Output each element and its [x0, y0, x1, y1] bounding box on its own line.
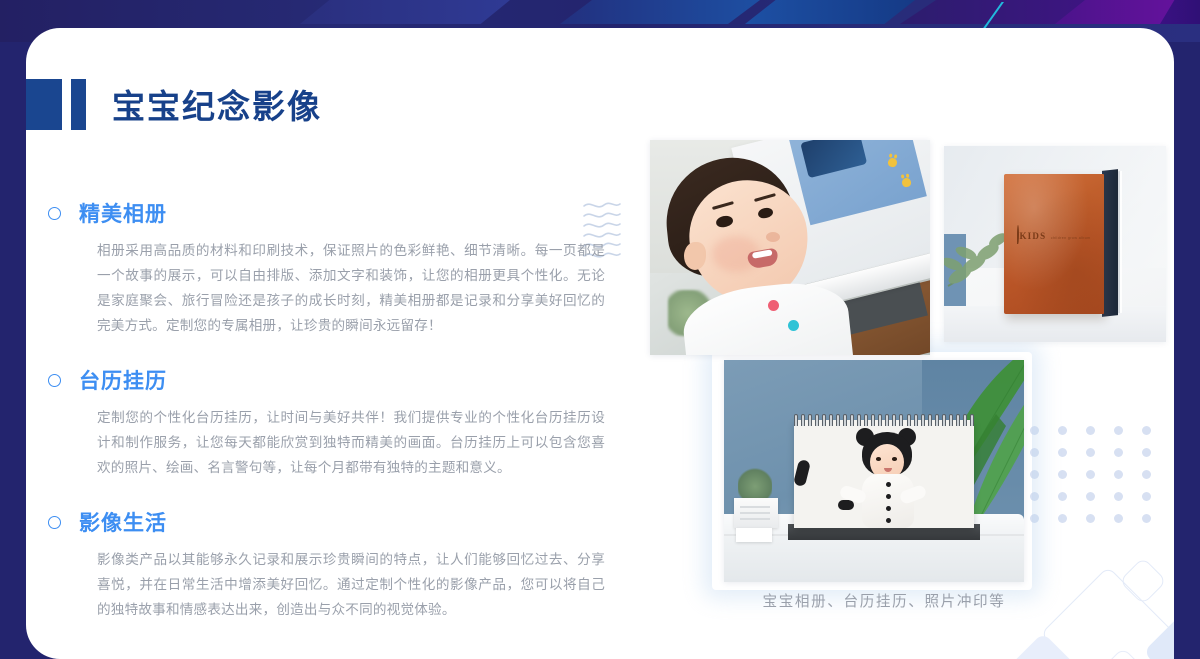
circle-bullet-icon — [48, 374, 61, 387]
spiral-ring — [878, 414, 882, 426]
calendar-board — [794, 420, 974, 528]
spiral-ring — [935, 414, 939, 426]
spiral-ring — [794, 414, 798, 426]
spiral-ring — [949, 414, 953, 426]
feature-item-3: 影像生活 影像类产品以其能够永久记录和展示珍贵瞬间的特点，让人们能够回忆过去、分… — [48, 507, 608, 622]
photo-desk-calendar — [724, 360, 1024, 582]
feature-title-2: 台历挂历 — [79, 365, 167, 395]
photo-baby-photo-album — [650, 140, 930, 355]
spiral-ring — [970, 414, 974, 426]
spiral-ring — [885, 414, 889, 426]
title-accent-bar-small — [71, 79, 86, 130]
spiral-ring — [857, 414, 861, 426]
feature-item-1: 精美相册 相册采用高品质的材料和印刷技术，保证照片的色彩鲜艳、细节清晰。每一页都… — [48, 198, 608, 338]
feature-body-3: 影像类产品以其能够永久记录和展示珍贵瞬间的特点，让人们能够回忆过去、分享喜悦，并… — [97, 547, 605, 622]
banner-shape-2 — [560, 0, 760, 24]
content-card: 宝宝纪念影像 精美相册 相册采用高品质的材料和印刷技术，保证照片的色彩鲜艳、细节… — [26, 28, 1174, 659]
spiral-ring — [907, 414, 911, 426]
album-leather-cover — [1004, 174, 1104, 314]
diamond-filled-left — [1010, 632, 1075, 659]
feature-body-1: 相册采用高品质的材料和印刷技术，保证照片的色彩鲜艳、细节清晰。每一页都是一个故事… — [97, 238, 605, 338]
spiral-ring — [808, 414, 812, 426]
feature-body-2: 定制您的个性化台历挂历，让时间与美好共伴！我们提供专业的个性化台历挂历设计和制作… — [97, 405, 605, 480]
banner-shape-1 — [300, 0, 510, 24]
album-spine — [1102, 169, 1118, 317]
circle-bullet-icon — [48, 207, 61, 220]
spiral-ring — [921, 414, 925, 426]
spiral-ring — [822, 414, 826, 426]
spiral-ring — [928, 414, 932, 426]
spiral-ring — [899, 414, 903, 426]
spiral-ring — [871, 414, 875, 426]
photo-leather-kids-album: KIDS children grow album — [944, 146, 1166, 342]
feature-list: 精美相册 相册采用高品质的材料和印刷技术，保证照片的色彩鲜艳、细节清晰。每一页都… — [48, 198, 608, 622]
album-logo-tagline: children grow album — [1051, 236, 1091, 240]
spiral-ring — [801, 414, 805, 426]
feature-item-2: 台历挂历 定制您的个性化台历挂历，让时间与美好共伴！我们提供专业的个性化台历挂历… — [48, 365, 608, 480]
feature-title-1: 精美相册 — [79, 198, 167, 228]
feature-heading-row-1: 精美相册 — [48, 198, 608, 228]
spiral-ring — [850, 414, 854, 426]
diamond-outline-bottom — [1079, 647, 1167, 659]
calendar-spiral-binding — [794, 414, 974, 426]
album-logo: KIDS children grow album — [1016, 226, 1092, 244]
media-collage: KIDS children grow album — [624, 124, 1174, 624]
feature-title-3: 影像生活 — [79, 507, 167, 537]
spiral-ring — [815, 414, 819, 426]
baby-illustration — [662, 158, 840, 355]
spiral-ring — [864, 414, 868, 426]
spiral-ring — [836, 414, 840, 426]
feature-heading-row-3: 影像生活 — [48, 507, 608, 537]
spiral-ring — [956, 414, 960, 426]
page-title-row: 宝宝纪念影像 — [26, 78, 322, 130]
spiral-ring — [843, 414, 847, 426]
album-logo-text: KIDS — [1019, 231, 1046, 241]
spiral-ring — [914, 414, 918, 426]
baby-panda-illustration — [852, 432, 924, 528]
spiral-ring — [829, 414, 833, 426]
circle-bullet-icon — [48, 516, 61, 529]
spiral-ring — [942, 414, 946, 426]
media-caption: 宝宝相册、台历挂历、照片冲印等 — [624, 590, 1144, 611]
spiral-ring — [892, 414, 896, 426]
spiral-ring — [963, 414, 967, 426]
slide-root: 宝宝纪念影像 精美相册 相册采用高品质的材料和印刷技术，保证照片的色彩鲜艳、细节… — [0, 0, 1200, 659]
title-accent-bar-large — [26, 79, 62, 130]
page-title: 宝宝纪念影像 — [112, 80, 322, 128]
feature-heading-row-2: 台历挂历 — [48, 365, 608, 395]
